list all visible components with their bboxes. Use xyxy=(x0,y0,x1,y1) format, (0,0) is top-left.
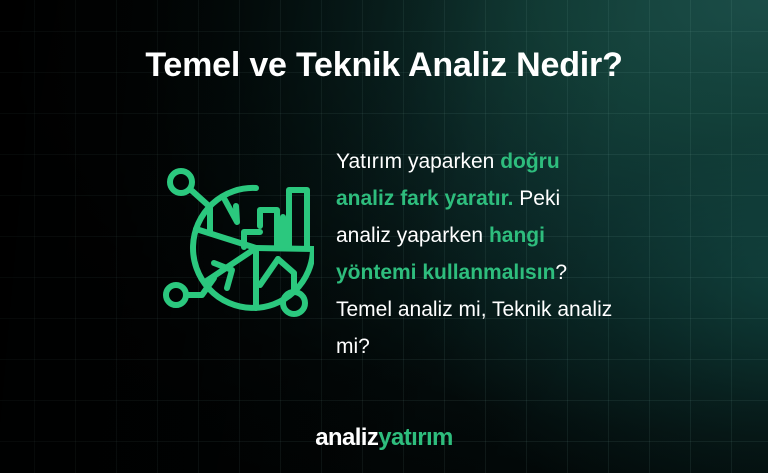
logo-part-yatirim: yatırım xyxy=(378,424,453,451)
page-title: Temel ve Teknik Analiz Nedir? xyxy=(0,43,768,87)
body-segment-0: Yatırım yaparken xyxy=(336,150,500,173)
brand-logo: analizyatırım xyxy=(0,424,768,452)
slide-canvas: Temel ve Teknik Analiz Nedir? xyxy=(0,0,768,473)
pie-bar-chart-network-icon xyxy=(152,160,314,320)
logo-part-analiz: analiz xyxy=(315,424,378,451)
body-text: Yatırım yaparken doğru analiz fark yarat… xyxy=(336,143,620,365)
